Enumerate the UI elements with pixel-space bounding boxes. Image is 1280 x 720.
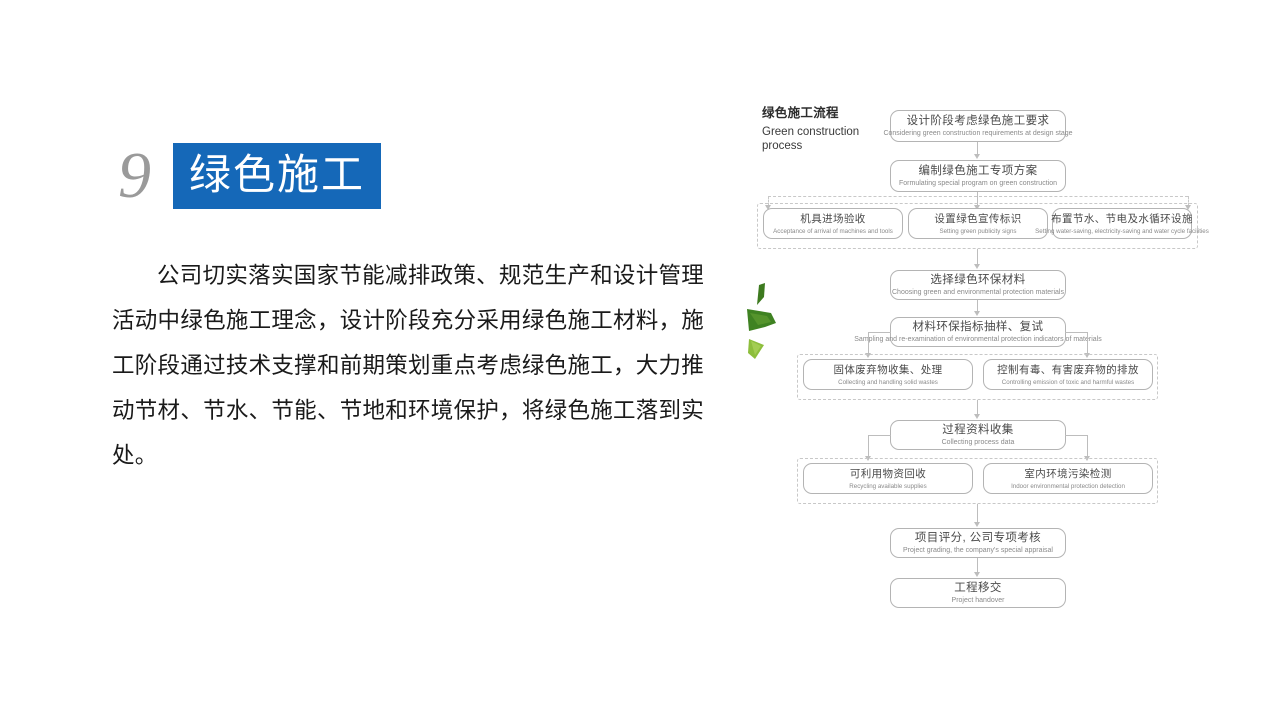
flow-node-label-cn: 过程资料收集	[942, 423, 1013, 437]
connector-line	[1065, 332, 1088, 333]
flow-node-label-en: Choosing green and environmental protect…	[892, 288, 1064, 297]
flow-node-label-cn: 设置绿色宣传标识	[934, 212, 1021, 226]
flow-node-indoor-detection[interactable]: 室内环境污染检测 Indoor environmental protection…	[983, 463, 1153, 494]
flow-node-material-sampling[interactable]: 材料环保指标抽样、复试 Sampling and re-examination …	[890, 317, 1066, 347]
flowchart-heading-en: Green construction process	[762, 125, 892, 153]
flow-node-machine-acceptance[interactable]: 机具进场验收 Acceptance of arrival of machines…	[763, 208, 903, 239]
flow-node-label-cn: 室内环境污染检测	[1024, 467, 1111, 481]
flow-node-label-en: Collecting process data	[942, 438, 1015, 447]
connector-arrow	[974, 264, 980, 269]
connector-line	[977, 400, 978, 415]
flow-node-label-en: Sampling and re-examination of environme…	[854, 335, 1101, 344]
flow-node-label-en: Considering green construction requireme…	[883, 129, 1072, 138]
flow-node-recycling[interactable]: 可利用物资回收 Recycling available supplies	[803, 463, 973, 494]
flow-node-label-cn: 工程移交	[954, 581, 1002, 595]
flow-node-label-en: Setting water-saving, electricity-saving…	[1035, 226, 1209, 235]
flowchart-heading: 绿色施工流程 Green construction process	[762, 105, 892, 153]
flow-node-toxic-waste[interactable]: 控制有毒、有害废弃物的排放 Controlling emission of to…	[983, 359, 1153, 390]
section-title-row: 9 绿色施工	[118, 143, 381, 209]
section-number: 9	[118, 143, 173, 209]
flow-node-label-en: Recycling available supplies	[849, 481, 926, 490]
flow-node-label-en: Acceptance of arrival of machines and to…	[773, 226, 893, 235]
flow-node-label-cn: 控制有毒、有害废弃物的排放	[997, 363, 1139, 377]
flow-node-project-handover[interactable]: 工程移交 Project handover	[890, 578, 1066, 608]
flow-node-label-en: Setting green publicity signs	[939, 226, 1016, 235]
body-paragraph: 公司切实落实国家节能减排政策、规范生产和设计管理活动中绿色施工理念，设计阶段充分…	[112, 253, 704, 478]
connector-line	[868, 435, 869, 457]
page-title: 绿色施工	[173, 143, 381, 209]
flow-node-green-materials[interactable]: 选择绿色环保材料 Choosing green and environmenta…	[890, 270, 1066, 300]
connector-arrow	[974, 522, 980, 527]
flow-node-label-cn: 布置节水、节电及水循环设施	[1051, 212, 1193, 226]
flow-node-water-electricity-facilities[interactable]: 布置节水、节电及水循环设施 Setting water-saving, elec…	[1052, 208, 1192, 239]
leaf-icon	[745, 283, 779, 361]
connector-arrow	[974, 311, 980, 316]
flow-node-solid-waste[interactable]: 固体废弃物收集、处理 Collecting and handling solid…	[803, 359, 973, 390]
connector-arrow	[974, 414, 980, 419]
connector-line	[1087, 435, 1088, 457]
flow-node-label-cn: 项目评分, 公司专项考核	[915, 531, 1041, 545]
flow-node-label-cn: 机具进场验收	[800, 212, 865, 226]
connector-bracket	[768, 196, 1188, 197]
flowchart-panel: 绿色施工流程 Green construction process 设计阶段考虑…	[735, 0, 1280, 720]
flow-node-label-cn: 材料环保指标抽样、复试	[913, 320, 1044, 334]
connector-arrow	[974, 572, 980, 577]
connector-line	[868, 332, 891, 333]
flow-node-label-en: Controlling emission of toxic and harmfu…	[1002, 377, 1134, 386]
flowchart-heading-cn: 绿色施工流程	[762, 105, 892, 122]
connector-line	[1065, 435, 1088, 436]
flow-node-label-cn: 设计阶段考虑绿色施工要求	[907, 114, 1050, 128]
flow-node-design-stage[interactable]: 设计阶段考虑绿色施工要求 Considering green construct…	[890, 110, 1066, 142]
connector-line	[868, 332, 869, 354]
flow-node-label-cn: 可利用物资回收	[850, 467, 926, 481]
flow-node-special-program[interactable]: 编制绿色施工专项方案 Formulating special program o…	[890, 160, 1066, 192]
connector-line	[868, 435, 891, 436]
connector-line	[977, 558, 978, 573]
flow-node-label-cn: 固体废弃物收集、处理	[834, 363, 943, 377]
flow-node-publicity-signs[interactable]: 设置绿色宣传标识 Setting green publicity signs	[908, 208, 1048, 239]
slide-left-column: 9 绿色施工 公司切实落实国家节能减排政策、规范生产和设计管理活动中绿色施工理念…	[0, 0, 730, 720]
connector-line	[1087, 332, 1088, 354]
flow-node-label-en: Project handover	[952, 596, 1005, 605]
connector-arrow	[974, 154, 980, 159]
flow-node-label-en: Indoor environmental protection detectio…	[1011, 481, 1125, 490]
flow-node-process-data[interactable]: 过程资料收集 Collecting process data	[890, 420, 1066, 450]
flow-node-label-en: Formulating special program on green con…	[899, 179, 1057, 188]
flow-node-label-en: Project grading, the company's special a…	[903, 546, 1053, 555]
flow-node-label-en: Collecting and handling solid wastes	[838, 377, 938, 386]
flow-node-label-cn: 编制绿色施工专项方案	[919, 164, 1038, 178]
flow-node-label-cn: 选择绿色环保材料	[930, 273, 1025, 287]
connector-line	[977, 504, 978, 523]
flow-node-project-grading[interactable]: 项目评分, 公司专项考核 Project grading, the compan…	[890, 528, 1066, 558]
